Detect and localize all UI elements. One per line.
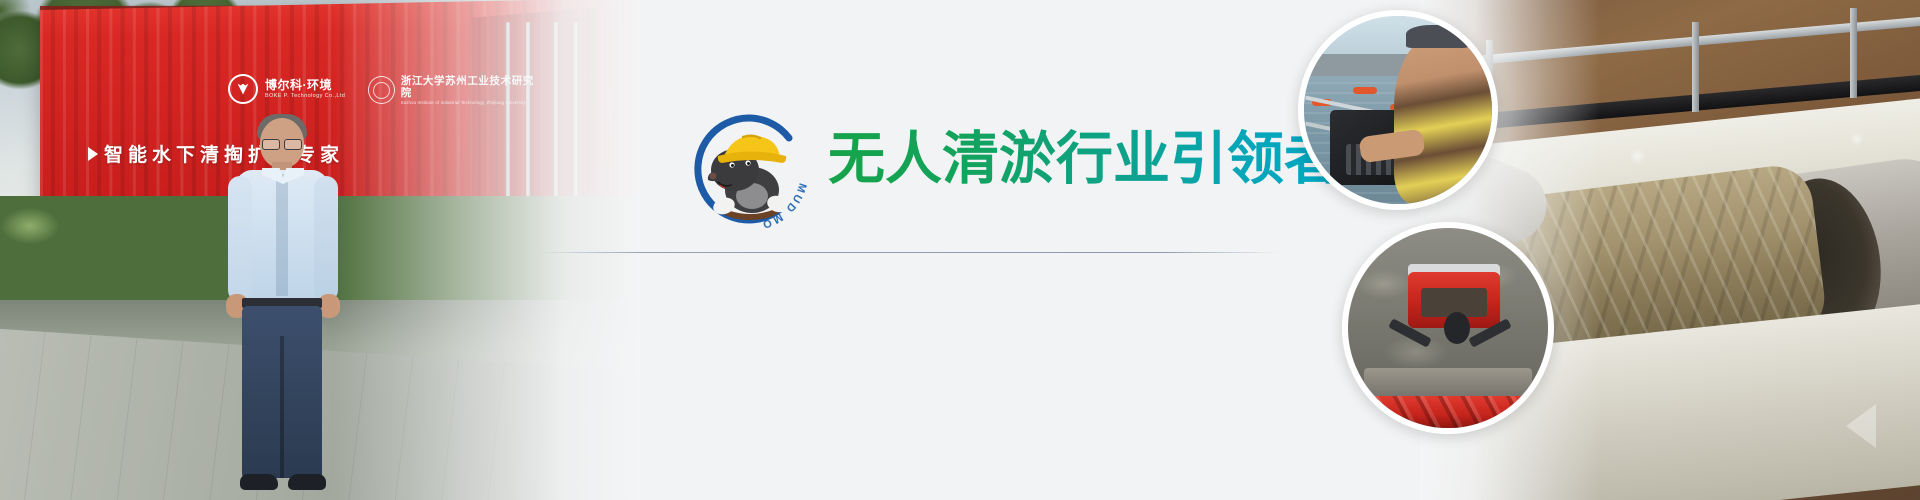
partner-institute-logo: 浙江大学苏州工业技术研究院 Suzhou Institute of Indust… xyxy=(368,74,538,106)
triangle-bullet-icon xyxy=(88,147,98,161)
operator xyxy=(1394,31,1498,204)
mud-mole-logo: MUD MOLE xyxy=(688,108,810,230)
page-title: 无人清淤行业引领者 xyxy=(828,128,1341,190)
rail-post xyxy=(1692,22,1699,112)
person-standing xyxy=(228,118,338,500)
orange-float xyxy=(1353,87,1377,94)
robot-wheel xyxy=(1444,312,1470,344)
banner-center-content: MUD MOLE 无人清淤行业引领者 xyxy=(640,0,1280,500)
robot-auger-head xyxy=(1364,396,1532,428)
left-arm xyxy=(228,176,252,302)
eyeglasses-icon xyxy=(261,139,303,148)
container-brand-logo: 博尔科·环境 BOKE P. Technology Co.,Ltd xyxy=(228,72,378,106)
rail-post xyxy=(1850,8,1857,98)
container-site-photo: 博尔科·环境 BOKE P. Technology Co.,Ltd 浙江大学苏州… xyxy=(0,0,640,500)
operator-cap xyxy=(1406,25,1470,48)
partner-name-cn: 浙江大学苏州工业技术研究院 xyxy=(401,75,538,99)
mud-mole-hero-banner: 博尔科·环境 BOKE P. Technology Co.,Ltd 浙江大学苏州… xyxy=(0,0,1920,500)
brand-name-en: BOKE P. Technology Co.,Ltd xyxy=(265,92,345,100)
partner-name-en: Suzhou Institute of Industrial Technolog… xyxy=(401,99,538,106)
left-shoe xyxy=(240,474,278,490)
handrail-top xyxy=(1420,14,1920,72)
right-arm xyxy=(314,176,338,302)
boke-mark-icon xyxy=(228,74,258,104)
arrow-right-icon xyxy=(1846,404,1876,448)
title-divider xyxy=(540,252,1280,253)
brand-name-cn: 博尔科·环境 xyxy=(265,79,345,92)
institute-seal-icon xyxy=(368,76,395,104)
operator-console-photo xyxy=(1298,10,1498,210)
right-photo-group xyxy=(1280,0,1920,500)
background-building xyxy=(1308,54,1413,77)
jeans xyxy=(242,306,322,478)
dredging-robot-photo xyxy=(1342,222,1554,434)
right-shoe xyxy=(288,474,326,490)
